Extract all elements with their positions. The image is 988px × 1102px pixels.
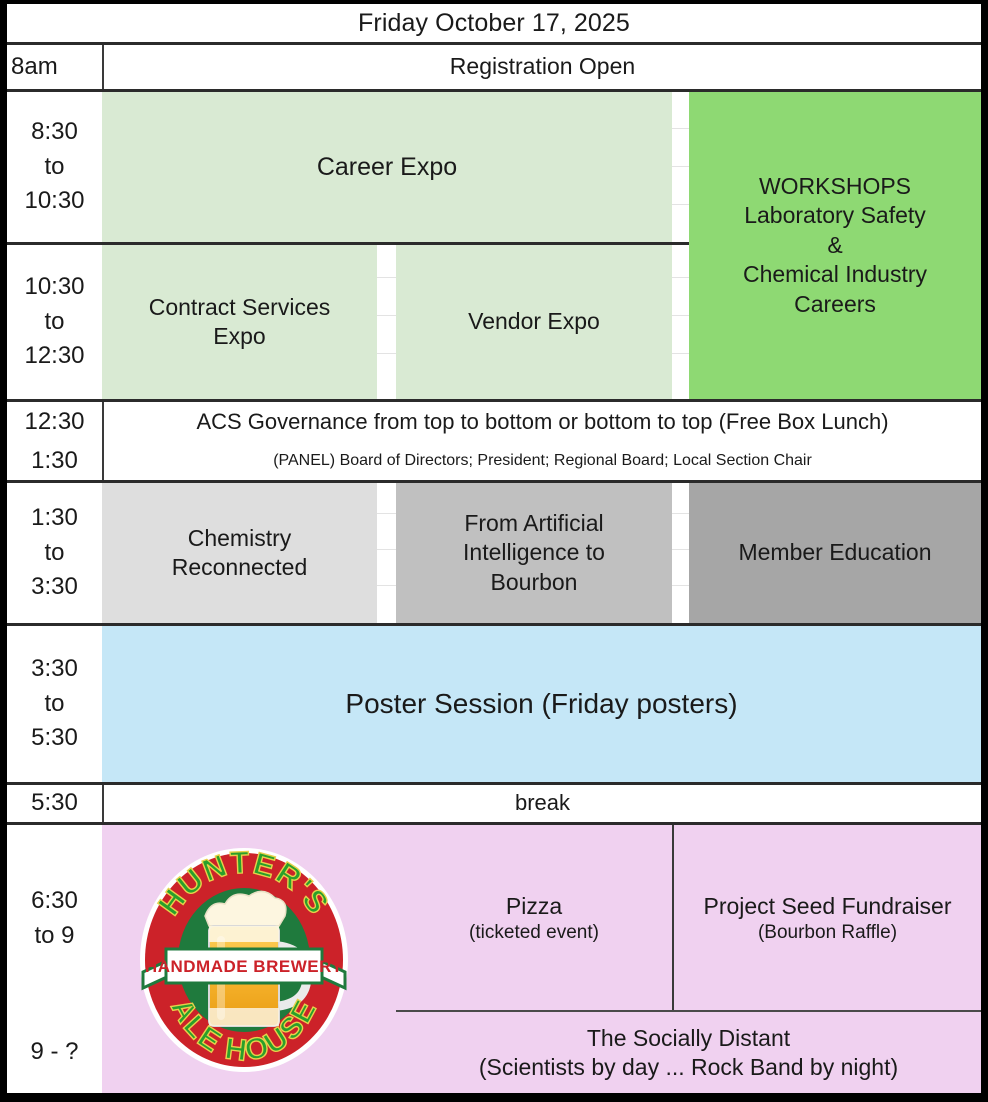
chem-line: Reconnected xyxy=(172,553,308,582)
time-label-130: 1:30 xyxy=(7,442,102,480)
time-label-530-break: 5:30 xyxy=(7,785,102,822)
member-education-block[interactable]: Member Education xyxy=(689,483,981,623)
time-line: 3:30 xyxy=(31,570,78,605)
time-label-130-330: 1:30 to 3:30 xyxy=(7,483,102,623)
time-line: 6:30 xyxy=(31,884,78,919)
schedule-grid: Friday October 17, 2025 8am Registration… xyxy=(7,4,981,1093)
time-line: 12:30 xyxy=(24,339,84,374)
chemistry-reconnected-block[interactable]: Chemistry Reconnected xyxy=(102,483,377,623)
contract-services-expo-block[interactable]: Contract Services Expo xyxy=(102,245,377,399)
poster-session-block[interactable]: Poster Session (Friday posters) xyxy=(102,626,981,782)
workshops-line: & xyxy=(827,231,842,260)
vendor-expo-block[interactable]: Vendor Expo xyxy=(396,245,672,399)
time-line: to xyxy=(44,536,64,571)
contract-line: Expo xyxy=(213,322,265,351)
ai-line: Bourbon xyxy=(491,568,578,597)
gutter-column xyxy=(377,483,396,623)
project-seed-label: Project Seed Fundraiser xyxy=(703,892,951,921)
time-line: 10:30 xyxy=(24,270,84,305)
time-line: to xyxy=(44,150,64,185)
career-expo-block[interactable]: Career Expo xyxy=(102,92,672,242)
time-label-1030-1230: 10:30 to 12:30 xyxy=(7,245,102,399)
band-sublabel: (Scientists by day ... Rock Band by nigh… xyxy=(479,1053,898,1082)
registration-open-block: Registration Open xyxy=(104,45,981,89)
ai-to-bourbon-block[interactable]: From Artificial Intelligence to Bourbon xyxy=(396,483,672,623)
pizza-block[interactable]: Pizza (ticketed event) xyxy=(396,825,672,1012)
workshops-line: WORKSHOPS xyxy=(759,172,911,201)
socially-distant-band-block[interactable]: The Socially Distant (Scientists by day … xyxy=(396,1013,981,1093)
chem-line: Chemistry xyxy=(188,524,292,553)
pizza-label: Pizza xyxy=(506,892,562,921)
break-block: break xyxy=(104,785,981,822)
time-label-1230: 12:30 xyxy=(7,402,102,442)
logo-banner-text: HANDMADE BREWERY xyxy=(145,957,343,976)
acs-governance-panel-block[interactable]: (PANEL) Board of Directors; President; R… xyxy=(104,442,981,480)
workshops-block[interactable]: WORKSHOPS Laboratory Safety & Chemical I… xyxy=(689,92,981,399)
time-label-9-question: 9 - ? xyxy=(7,1012,102,1093)
time-label-8am: 8am xyxy=(7,45,102,89)
project-seed-fundraiser-block[interactable]: Project Seed Fundraiser (Bourbon Raffle) xyxy=(674,825,981,1012)
row-divider xyxy=(396,1010,981,1012)
gutter-column xyxy=(672,92,689,242)
project-seed-sublabel: (Bourbon Raffle) xyxy=(758,921,897,945)
ai-line: Intelligence to xyxy=(463,538,605,567)
workshops-line: Chemical Industry xyxy=(743,260,927,289)
time-label-330-530: 3:30 to 5:30 xyxy=(7,626,102,782)
time-line: to 9 xyxy=(34,919,74,954)
time-label-830-1030: 8:30 to 10:30 xyxy=(7,92,102,242)
pizza-sublabel: (ticketed event) xyxy=(469,921,599,945)
time-line: 8:30 xyxy=(31,115,78,150)
gutter-column xyxy=(377,245,396,399)
contract-line: Contract Services xyxy=(149,293,331,322)
workshops-line: Laboratory Safety xyxy=(744,201,926,230)
schedule-page: Friday October 17, 2025 8am Registration… xyxy=(0,0,988,1102)
band-label: The Socially Distant xyxy=(587,1024,790,1053)
gutter-column xyxy=(672,245,689,399)
time-line: 3:30 xyxy=(31,652,78,687)
ai-line: From Artificial xyxy=(464,509,603,538)
workshops-line: Careers xyxy=(794,290,876,319)
time-line: to xyxy=(44,305,64,340)
acs-governance-block[interactable]: ACS Governance from top to bottom or bot… xyxy=(104,402,981,442)
time-line: to xyxy=(44,687,64,722)
date-title: Friday October 17, 2025 xyxy=(7,4,981,42)
time-line: 10:30 xyxy=(24,184,84,219)
time-line: 1:30 xyxy=(31,501,78,536)
time-label-630-9: 6:30 to 9 xyxy=(7,825,102,1012)
gutter-column xyxy=(672,483,689,623)
time-line: 5:30 xyxy=(31,721,78,756)
hunters-ale-house-logo: HANDMADE BREWERY HUNTER'S ALE HOUSE xyxy=(133,846,355,1074)
